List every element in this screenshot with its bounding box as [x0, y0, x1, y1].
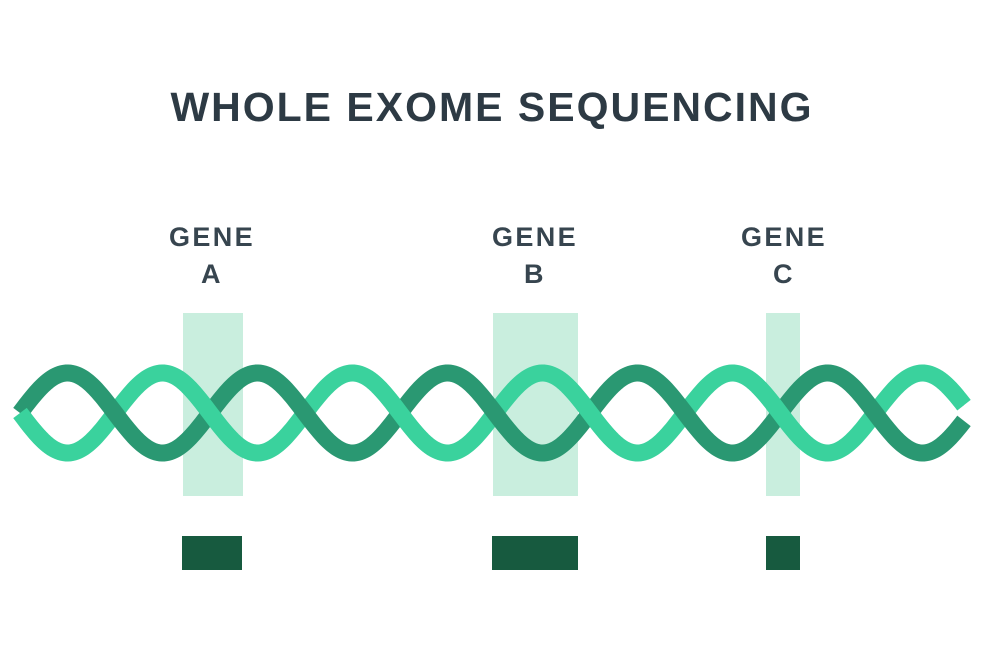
page-title: WHOLE EXOME SEQUENCING [0, 85, 984, 130]
gene-label-c-line2: C [634, 256, 934, 293]
gene-label-c-line1: GENE [634, 219, 934, 256]
figure-canvas: WHOLE EXOME SEQUENCING GENE A GENE B GEN… [0, 0, 984, 656]
dna-double-helix-icon [0, 340, 984, 485]
gene-label-c: GENE C [634, 219, 934, 294]
exon-bar-gene-c [766, 536, 800, 570]
exon-bar-gene-b [492, 536, 578, 570]
exon-bar-gene-a [182, 536, 242, 570]
gene-label-a-line1: GENE [62, 219, 362, 256]
gene-label-a-line2: A [62, 256, 362, 293]
gene-label-a: GENE A [62, 219, 362, 294]
